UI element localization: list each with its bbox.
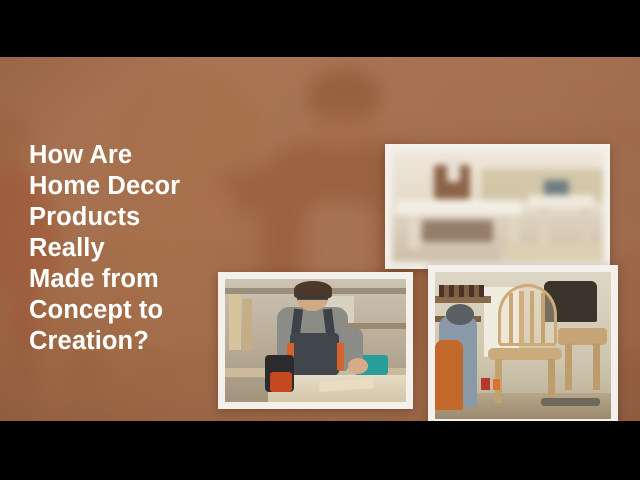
handheld-tool-grip — [270, 372, 292, 392]
paint-can-2 — [493, 379, 500, 389]
interior-table-leg-1 — [409, 215, 420, 248]
headline: How Are Home Decor Products Really Made … — [29, 140, 180, 357]
interior-table-leg-4 — [582, 207, 590, 245]
overall-bib — [290, 333, 339, 375]
chairshop-jars — [439, 285, 485, 297]
windsor-spindle-2 — [519, 291, 523, 342]
overall-trim-right — [337, 343, 344, 370]
leaning-board-2 — [243, 299, 252, 351]
chairmaker-orange-apron — [435, 340, 463, 411]
photo-carpenter — [225, 279, 406, 402]
photo-interior — [392, 151, 603, 262]
second-chair-leg-2 — [593, 343, 600, 390]
letterbox-bar-bottom — [0, 421, 640, 480]
headline-line-2: Home Decor — [29, 171, 180, 202]
carpenter-glasses — [297, 295, 328, 300]
windsor-spindle-4 — [541, 293, 545, 343]
headline-line-3: Products — [29, 202, 180, 233]
chairmaker-head — [446, 304, 474, 325]
photo-chairmaker — [435, 272, 611, 419]
photo-card-interior — [385, 144, 610, 269]
headline-line-7: Creation? — [29, 326, 180, 357]
paint-can-1 — [481, 378, 490, 390]
thumbnail-stage: How Are Home Decor Products Really Made … — [0, 57, 640, 421]
interior-table-leg-3 — [540, 207, 548, 245]
hand-tools-on-bench — [541, 398, 601, 405]
photo-card-carpenter — [218, 272, 413, 409]
photo-card-chairmaker — [428, 265, 618, 421]
windsor-chair-back — [498, 284, 557, 346]
windsor-chair-leg-2 — [548, 359, 555, 403]
leaning-board-1 — [229, 294, 242, 351]
windsor-spindle-3 — [530, 291, 534, 342]
video-thumbnail: How Are Home Decor Products Really Made … — [0, 0, 640, 480]
headline-line-6: Concept to — [29, 295, 180, 326]
headline-line-1: How Are — [29, 140, 180, 171]
carpenter-hand — [348, 358, 368, 374]
letterbox-bar-top — [0, 0, 640, 57]
headline-line-5: Made from — [29, 264, 180, 295]
second-chair-leg-1 — [565, 343, 572, 390]
interior-bottle — [447, 158, 460, 182]
interior-woven-rug — [502, 242, 603, 262]
headline-line-4: Really — [29, 233, 180, 264]
interior-shadow — [422, 220, 494, 242]
windsor-spindle-1 — [509, 293, 513, 343]
interior-table-front — [396, 200, 523, 216]
